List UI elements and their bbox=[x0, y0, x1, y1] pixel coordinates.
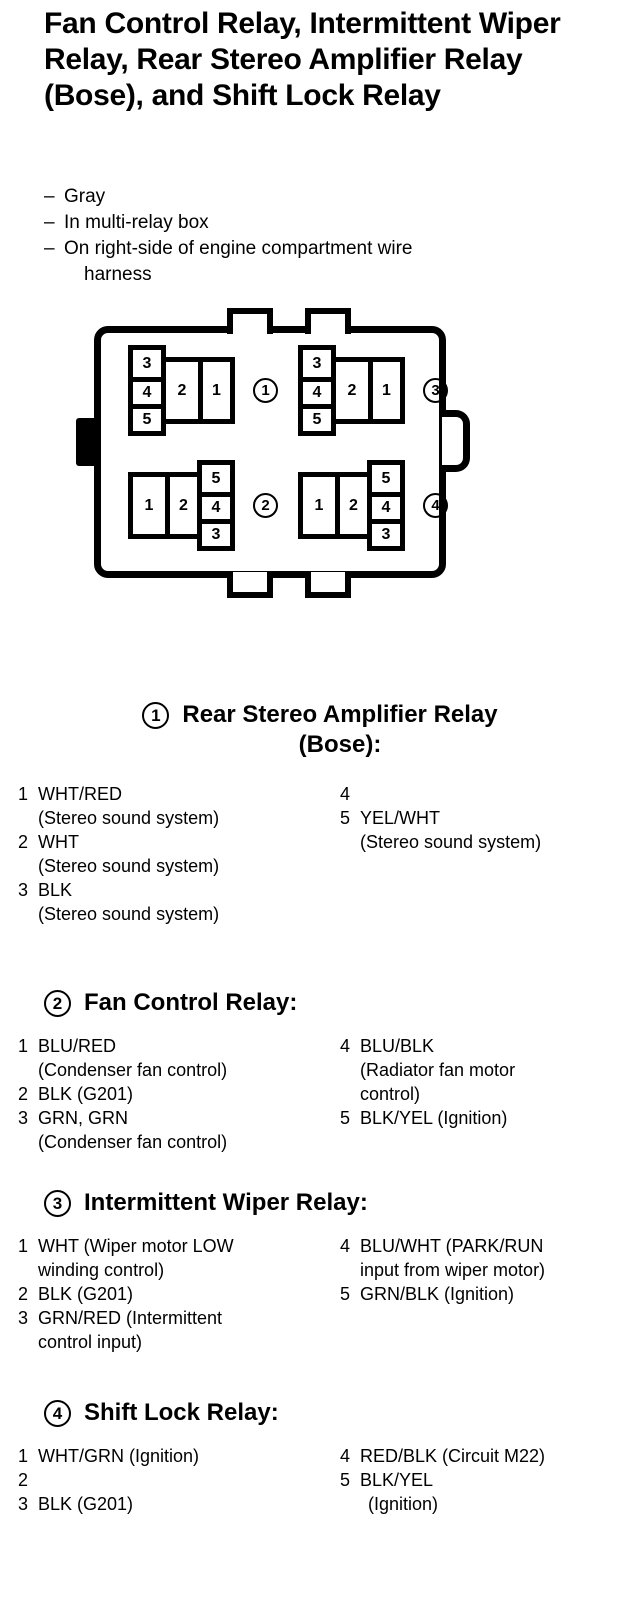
section-2-title: Fan Control Relay: bbox=[84, 988, 640, 1018]
relay-4-pin: 4 bbox=[372, 492, 400, 519]
pin-number: 2 bbox=[18, 1282, 38, 1306]
pin-value: RED/BLK (Circuit M22) bbox=[360, 1444, 640, 1468]
relay-marker-4: 4 bbox=[423, 493, 448, 518]
section-1-pins-right: 4 5 YEL/WHT (Stereo sound system) bbox=[320, 782, 640, 926]
pin-entry: 3 BLK bbox=[18, 878, 320, 902]
section-1-pins: 1 WHT/RED (Stereo sound system) 2 WHT (S… bbox=[0, 782, 640, 926]
relay-2-pin-column: 5 4 3 bbox=[197, 460, 235, 551]
pin-value: BLU/WHT (PARK/RUN bbox=[360, 1234, 640, 1258]
pin-number: 4 bbox=[340, 1034, 360, 1058]
pin-value: BLU/RED bbox=[38, 1034, 320, 1058]
pin-entry: 1 BLU/RED bbox=[18, 1034, 320, 1058]
mounting-tab-bottom-right bbox=[305, 572, 339, 592]
section-3-pins-right: 4 BLU/WHT (PARK/RUN input from wiper mot… bbox=[320, 1234, 640, 1354]
dash-icon: – bbox=[44, 210, 64, 236]
relay-2-pin: 2 bbox=[165, 477, 197, 534]
relay-1-pin: 5 bbox=[133, 404, 161, 431]
pin-value: BLK (G201) bbox=[38, 1492, 320, 1516]
pin-entry: 2 BLK (G201) bbox=[18, 1082, 320, 1106]
relay-2-pin-wide-group: 1 2 bbox=[128, 472, 202, 539]
pin-number: 4 bbox=[340, 1234, 360, 1258]
relay-1-pin: 4 bbox=[133, 377, 161, 404]
pin-value: BLK bbox=[38, 878, 320, 902]
section-1-title-line2: (Bose): bbox=[182, 730, 497, 760]
relay-socket-3: 3 4 5 2 1 3 bbox=[298, 345, 448, 436]
relay-4-pin-column: 5 4 3 bbox=[367, 460, 405, 551]
relay-4-pin: 3 bbox=[372, 519, 400, 546]
pin-number: 4 bbox=[340, 1444, 360, 1468]
relay-socket-1: 3 4 5 2 1 1 bbox=[128, 345, 278, 436]
legend-section-2: 2 Fan Control Relay: 1 BLU/RED (Condense… bbox=[0, 988, 640, 1154]
relay-3-pin: 5 bbox=[303, 404, 331, 431]
pin-entry: 2 bbox=[18, 1468, 320, 1492]
pin-number: 5 bbox=[340, 1106, 360, 1130]
pin-subtext: (Condenser fan control) bbox=[18, 1130, 320, 1154]
relay-3-pin: 2 bbox=[336, 362, 368, 419]
pin-value: WHT/RED bbox=[38, 782, 320, 806]
pin-subtext: control input) bbox=[18, 1330, 320, 1354]
pin-number: 4 bbox=[340, 782, 360, 806]
pin-entry: 4 bbox=[340, 782, 640, 806]
section-marker-2: 2 bbox=[44, 990, 71, 1017]
pin-value: BLK/YEL bbox=[360, 1468, 640, 1492]
pin-number: 3 bbox=[18, 1106, 38, 1130]
mounting-tab-top-left bbox=[227, 308, 261, 328]
note-text: Gray bbox=[64, 184, 584, 210]
note-item: – Gray bbox=[44, 184, 584, 210]
pin-subtext-2: control) bbox=[340, 1082, 640, 1106]
relay-2-pin: 3 bbox=[202, 519, 230, 546]
pin-number: 5 bbox=[340, 1282, 360, 1306]
pin-value: WHT (Wiper motor LOW bbox=[38, 1234, 320, 1258]
pin-subtext: (Stereo sound system) bbox=[18, 806, 320, 830]
relay-4-pin: 2 bbox=[335, 477, 367, 534]
relay-2-pin: 4 bbox=[202, 492, 230, 519]
pin-entry: 3 BLK (G201) bbox=[18, 1492, 320, 1516]
note-text: On right-side of engine compartment wire bbox=[64, 236, 584, 262]
relay-1-pin: 1 bbox=[198, 362, 230, 419]
pin-subtext: winding control) bbox=[18, 1258, 320, 1282]
legend-section-1: 1 Rear Stereo Amplifier Relay (Bose): 1 … bbox=[0, 700, 640, 926]
pin-number: 3 bbox=[18, 1492, 38, 1516]
relay-socket-2: 1 2 5 4 3 2 bbox=[128, 460, 278, 551]
pin-number: 3 bbox=[18, 878, 38, 902]
section-1-title: Rear Stereo Amplifier Relay (Bose): bbox=[182, 700, 497, 760]
mounting-tab-top-right bbox=[305, 308, 339, 328]
relay-2-pin: 5 bbox=[202, 465, 230, 492]
relay-marker-2: 2 bbox=[253, 493, 278, 518]
pin-entry: 4 BLU/BLK bbox=[340, 1034, 640, 1058]
dash-icon: – bbox=[44, 184, 64, 210]
pin-entry: 1 WHT/RED bbox=[18, 782, 320, 806]
relay-1-pin-column: 3 4 5 bbox=[128, 345, 166, 436]
pin-number: 1 bbox=[18, 1444, 38, 1468]
section-4-title: Shift Lock Relay: bbox=[84, 1398, 640, 1428]
relay-3-pin: 1 bbox=[368, 362, 400, 419]
relay-3-pin-column: 3 4 5 bbox=[298, 345, 336, 436]
pin-subtext: (Radiator fan motor bbox=[340, 1058, 640, 1082]
pin-value: BLK (G201) bbox=[38, 1282, 320, 1306]
pin-entry: 1 WHT/GRN (Ignition) bbox=[18, 1444, 320, 1468]
section-1-title-line1: Rear Stereo Amplifier Relay bbox=[182, 701, 497, 728]
relay-2-pin: 1 bbox=[133, 477, 165, 534]
relay-3-pin: 4 bbox=[303, 377, 331, 404]
section-4-heading: 4 Shift Lock Relay: bbox=[0, 1398, 640, 1428]
relay-1-pin: 2 bbox=[166, 362, 198, 419]
pin-entry: 4 BLU/WHT (PARK/RUN bbox=[340, 1234, 640, 1258]
pin-value: BLU/BLK bbox=[360, 1034, 640, 1058]
dash-icon: – bbox=[44, 236, 64, 262]
pin-entry: 2 BLK (G201) bbox=[18, 1282, 320, 1306]
section-4-pins-left: 1 WHT/GRN (Ignition) 2 3 BLK (G201) bbox=[0, 1444, 320, 1516]
pin-value: BLK/YEL (Ignition) bbox=[360, 1106, 640, 1130]
pin-entry: 3 GRN/RED (Intermittent bbox=[18, 1306, 320, 1330]
relay-3-pin: 3 bbox=[303, 350, 331, 377]
note-item: – In multi-relay box bbox=[44, 210, 584, 236]
section-3-title: Intermittent Wiper Relay: bbox=[84, 1188, 640, 1218]
relay-1-pin-wide-group: 2 1 bbox=[161, 357, 235, 424]
pin-entry: 5 YEL/WHT bbox=[340, 806, 640, 830]
section-1-heading: 1 Rear Stereo Amplifier Relay (Bose): bbox=[0, 700, 640, 760]
pin-subtext: input from wiper motor) bbox=[340, 1258, 640, 1282]
pin-value: WHT bbox=[38, 830, 320, 854]
pin-value: GRN/RED (Intermittent bbox=[38, 1306, 320, 1330]
pin-number: 2 bbox=[18, 830, 38, 854]
relay-socket-4: 1 2 5 4 3 4 bbox=[298, 460, 448, 551]
section-4-pins-right: 4 RED/BLK (Circuit M22) 5 BLK/YEL (Ignit… bbox=[320, 1444, 640, 1516]
pin-entry: 1 WHT (Wiper motor LOW bbox=[18, 1234, 320, 1258]
mounting-tab-bottom-left bbox=[227, 572, 261, 592]
pin-entry: 5 BLK/YEL bbox=[340, 1468, 640, 1492]
section-marker-3: 3 bbox=[44, 1190, 71, 1217]
legend-section-4: 4 Shift Lock Relay: 1 WHT/GRN (Ignition)… bbox=[0, 1398, 640, 1516]
section-3-heading: 3 Intermittent Wiper Relay: bbox=[0, 1188, 640, 1218]
pin-number: 1 bbox=[18, 782, 38, 806]
note-text: In multi-relay box bbox=[64, 210, 584, 236]
section-2-pins-right: 4 BLU/BLK (Radiator fan motor control) 5… bbox=[320, 1034, 640, 1154]
connector-tab-left bbox=[76, 418, 98, 466]
pin-entry: 5 BLK/YEL (Ignition) bbox=[340, 1106, 640, 1130]
pin-subtext: (Condenser fan control) bbox=[18, 1058, 320, 1082]
section-4-pins: 1 WHT/GRN (Ignition) 2 3 BLK (G201) 4 RE… bbox=[0, 1444, 640, 1516]
pin-subtext: (Ignition) bbox=[340, 1492, 640, 1516]
relay-4-pin-wide-group: 1 2 bbox=[298, 472, 372, 539]
page-title: Fan Control Relay, Intermittent Wiper Re… bbox=[44, 6, 604, 114]
pin-entry: 4 RED/BLK (Circuit M22) bbox=[340, 1444, 640, 1468]
section-1-pins-left: 1 WHT/RED (Stereo sound system) 2 WHT (S… bbox=[0, 782, 320, 926]
section-2-heading: 2 Fan Control Relay: bbox=[0, 988, 640, 1018]
pin-subtext: (Stereo sound system) bbox=[18, 854, 320, 878]
section-marker-1: 1 bbox=[142, 702, 169, 729]
section-marker-4: 4 bbox=[44, 1400, 71, 1427]
relay-3-pin-wide-group: 2 1 bbox=[331, 357, 405, 424]
section-3-pins-left: 1 WHT (Wiper motor LOW winding control) … bbox=[0, 1234, 320, 1354]
relay-4-pin: 5 bbox=[372, 465, 400, 492]
pin-value: GRN/BLK (Ignition) bbox=[360, 1282, 640, 1306]
relay-4-pin: 1 bbox=[303, 477, 335, 534]
relay-marker-3: 3 bbox=[423, 378, 448, 403]
section-3-pins: 1 WHT (Wiper motor LOW winding control) … bbox=[0, 1234, 640, 1354]
pin-number: 2 bbox=[18, 1468, 38, 1492]
pin-entry: 2 WHT bbox=[18, 830, 320, 854]
notes-list: – Gray – In multi-relay box – On right-s… bbox=[44, 184, 584, 288]
pin-subtext: (Stereo sound system) bbox=[340, 830, 640, 854]
relay-marker-1: 1 bbox=[253, 378, 278, 403]
legend-section-3: 3 Intermittent Wiper Relay: 1 WHT (Wiper… bbox=[0, 1188, 640, 1354]
pin-value: BLK (G201) bbox=[38, 1082, 320, 1106]
pin-subtext: (Stereo sound system) bbox=[18, 902, 320, 926]
pin-entry: 3 GRN, GRN bbox=[18, 1106, 320, 1130]
pin-entry: 5 GRN/BLK (Ignition) bbox=[340, 1282, 640, 1306]
multi-relay-box-diagram: 3 4 5 2 1 1 1 2 5 4 3 2 3 4 5 2 1 bbox=[60, 300, 510, 600]
pin-value: YEL/WHT bbox=[360, 806, 640, 830]
pin-number: 5 bbox=[340, 1468, 360, 1492]
pin-value: GRN, GRN bbox=[38, 1106, 320, 1130]
note-item: – On right-side of engine compartment wi… bbox=[44, 236, 584, 262]
relay-1-pin: 3 bbox=[133, 350, 161, 377]
pin-number: 1 bbox=[18, 1034, 38, 1058]
pin-number: 5 bbox=[340, 806, 360, 830]
pin-value: WHT/GRN (Ignition) bbox=[38, 1444, 320, 1468]
pin-number: 2 bbox=[18, 1082, 38, 1106]
section-2-pins-left: 1 BLU/RED (Condenser fan control) 2 BLK … bbox=[0, 1034, 320, 1154]
pin-number: 3 bbox=[18, 1306, 38, 1330]
pin-number: 1 bbox=[18, 1234, 38, 1258]
note-continuation: harness bbox=[44, 262, 584, 288]
section-2-pins: 1 BLU/RED (Condenser fan control) 2 BLK … bbox=[0, 1034, 640, 1154]
